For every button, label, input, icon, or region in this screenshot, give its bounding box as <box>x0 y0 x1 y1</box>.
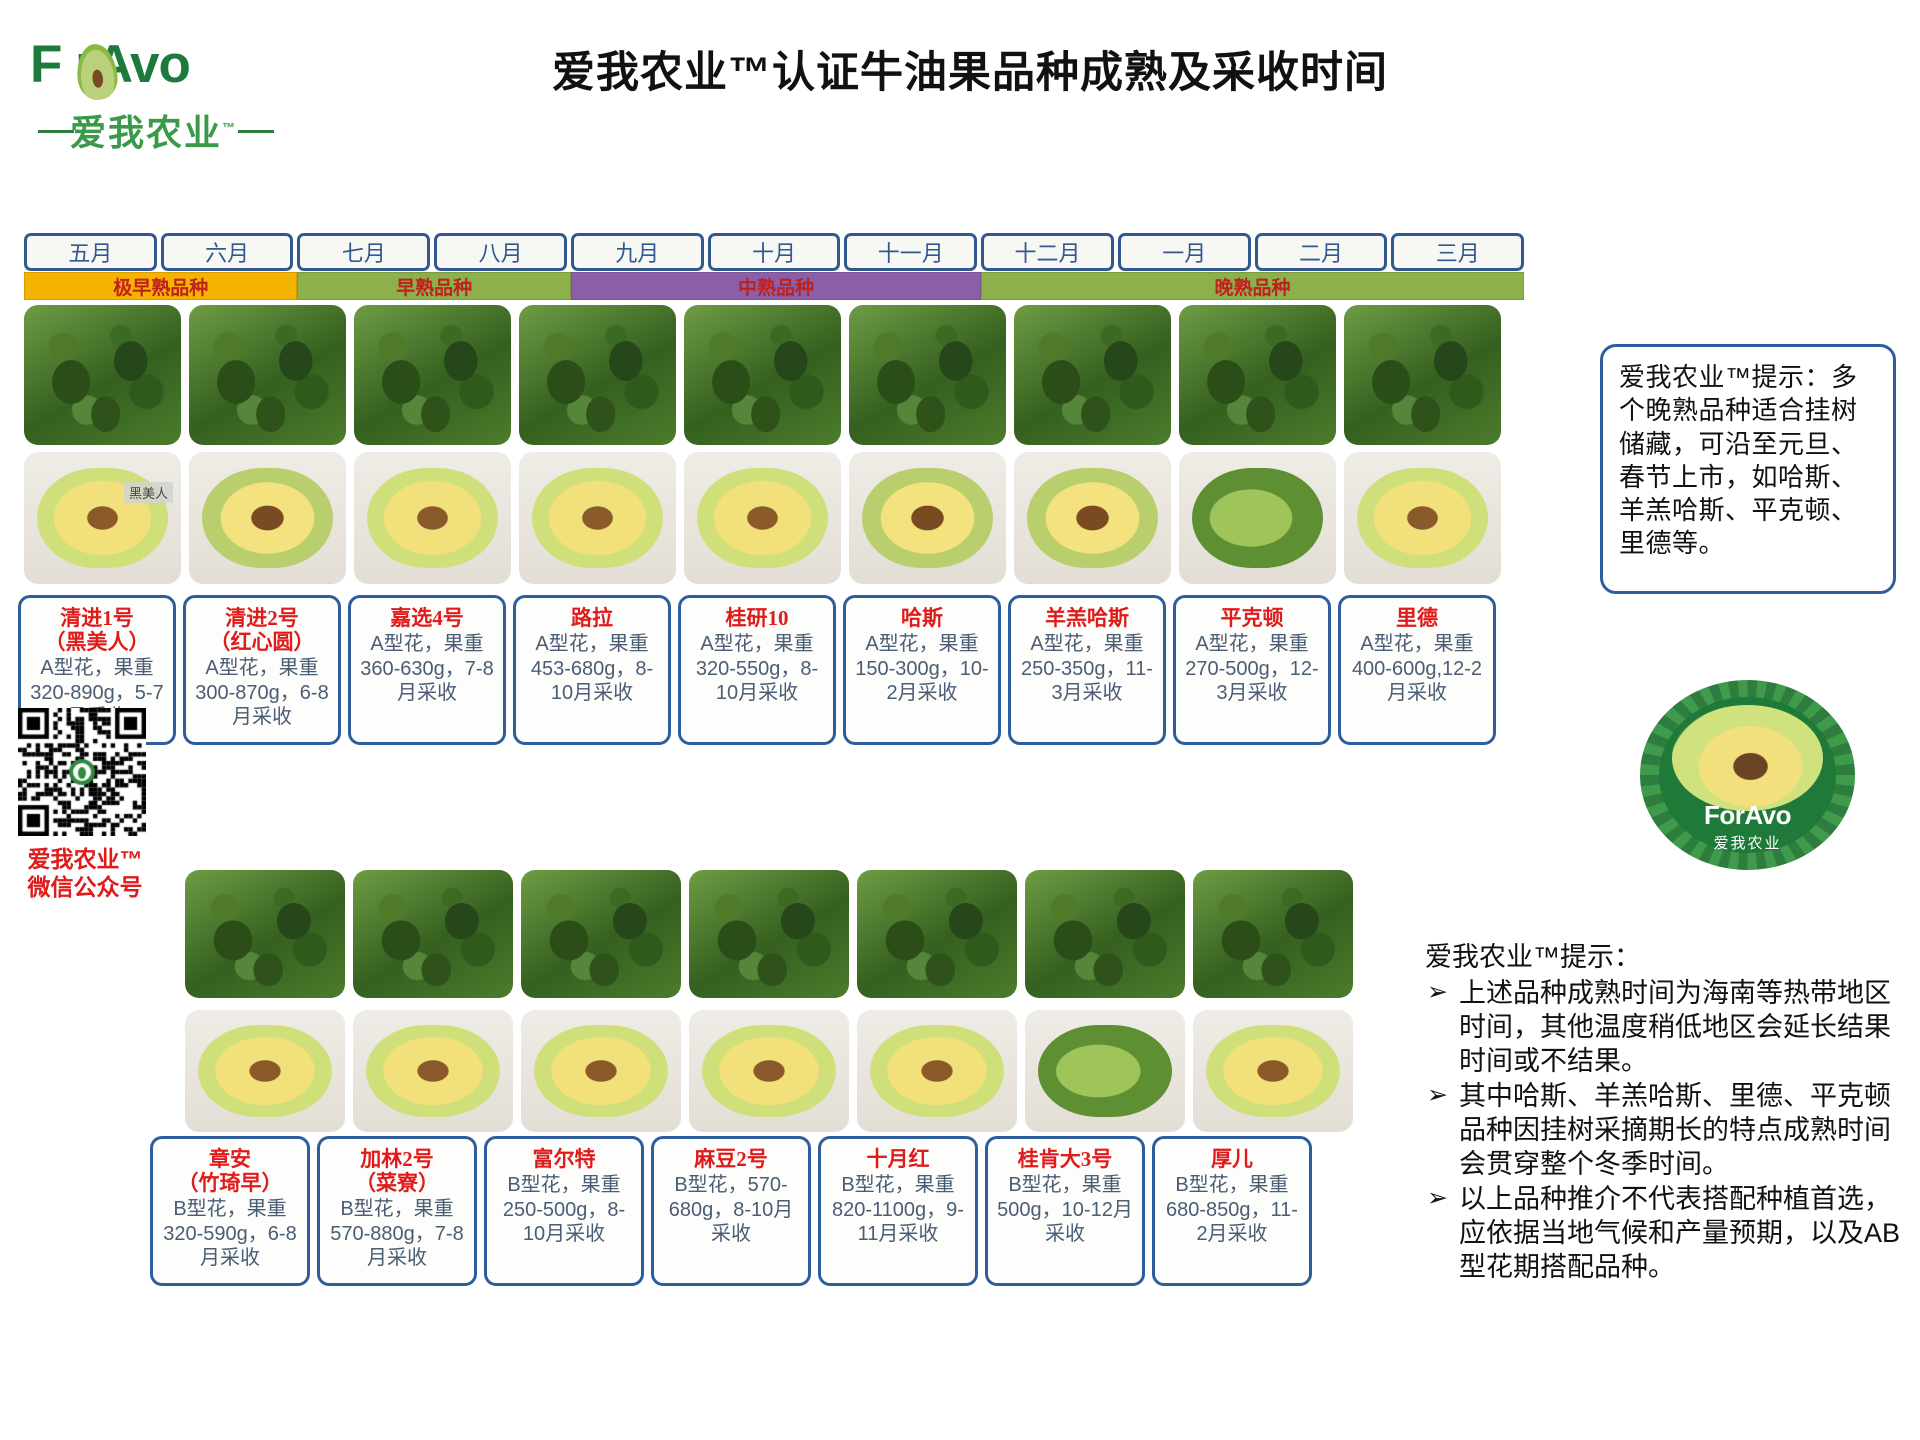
logo-wordmark: F rAvo <box>30 38 280 91</box>
variety-name: 桂肯大3号 <box>994 1147 1136 1171</box>
tip-item-2: ➢其中哈斯、羊羔哈斯、里德、平克顿品种因挂树采摘期长的特点成熟时间会贯穿整个冬季… <box>1425 1079 1905 1181</box>
variety-description: B型花，果重320-590g，6-8月采收 <box>159 1197 301 1270</box>
qr-caption: 爱我农业™ 微信公众号 <box>10 845 160 901</box>
fruit-photo-a-8 <box>1179 452 1336 584</box>
variety-card-a-5[interactable]: 桂研10A型花，果重320-550g，8-10月采收 <box>678 595 836 745</box>
month-label: 二月 <box>1299 236 1343 268</box>
tree-photo-b-6 <box>1025 870 1185 998</box>
tree-photo-b-4 <box>689 870 849 998</box>
variety-name: 富尔特 <box>493 1147 635 1171</box>
tree-photo-b-2 <box>353 870 513 998</box>
month-cell-8: 十二月 <box>981 233 1114 271</box>
variety-card-a-7[interactable]: 羊羔哈斯A型花，果重250-350g，11-3月采收 <box>1008 595 1166 745</box>
variety-name: 十月红 <box>827 1147 969 1171</box>
maturity-band-label: 中熟品种 <box>738 273 814 300</box>
variety-card-b-3[interactable]: 富尔特B型花，果重250-500g，8-10月采收 <box>484 1136 644 1286</box>
month-label: 八月 <box>479 236 523 268</box>
variety-name: 清进2号 （红心圆） <box>192 606 332 654</box>
fruit-photo-b-1 <box>185 1010 345 1132</box>
wechat-qr-code[interactable] <box>18 708 146 836</box>
variety-card-b-4[interactable]: 麻豆2号B型花，570-680g，8-10月采收 <box>651 1136 811 1286</box>
trademark-symbol: ™ <box>222 120 237 135</box>
variety-card-a-3[interactable]: 嘉选4号A型花，果重360-630g，7-8月采收 <box>348 595 506 745</box>
month-cell-3: 七月 <box>297 233 430 271</box>
month-label: 一月 <box>1162 236 1206 268</box>
tip-item-text: 其中哈斯、羊羔哈斯、里德、平克顿品种因挂树采摘期长的特点成熟时间会贯穿整个冬季时… <box>1459 1081 1891 1179</box>
month-label: 六月 <box>205 236 249 268</box>
fruit-photo-b-4 <box>689 1010 849 1132</box>
month-cell-1: 五月 <box>24 233 157 271</box>
variety-card-a-8[interactable]: 平克顿A型花，果重270-500g，12-3月采收 <box>1173 595 1331 745</box>
bullet-arrow-icon: ➢ <box>1427 977 1448 1009</box>
month-cell-6: 十月 <box>708 233 841 271</box>
month-label: 三月 <box>1436 236 1480 268</box>
fruit-photo-b-5 <box>857 1010 1017 1132</box>
fruit-photo-a-9 <box>1344 452 1501 584</box>
page-title: 爱我农业™认证牛油果品种成熟及采收时间 <box>430 48 1510 100</box>
maturity-band-label: 晚熟品种 <box>1215 273 1291 300</box>
variety-description: A型花，果重360-630g，7-8月采收 <box>357 632 497 705</box>
seal-wordmark: ForAvo <box>1640 800 1855 831</box>
variety-name: 里德 <box>1347 606 1487 630</box>
tip-callout-top-text: 爱我农业™提示：多个晚熟品种适合挂树储藏，可沿至元旦、春节上市，如哈斯、羊羔哈斯… <box>1619 362 1858 558</box>
month-label: 十二月 <box>1015 236 1081 268</box>
month-cell-2: 六月 <box>161 233 294 271</box>
tree-photo-b-3 <box>521 870 681 998</box>
qr-caption-line1: 爱我农业™ <box>10 845 160 873</box>
month-label: 五月 <box>68 236 112 268</box>
variety-description: A型花，果重400-600g,12-2月采收 <box>1347 632 1487 705</box>
month-cell-4: 八月 <box>434 233 567 271</box>
variety-name: 哈斯 <box>852 606 992 630</box>
variety-name: 羊羔哈斯 <box>1017 606 1157 630</box>
row-b-variety-cards: 章安 （竹琦早）B型花，果重320-590g，6-8月采收加林2号 （菜寮）B型… <box>150 1136 1312 1286</box>
variety-card-b-1[interactable]: 章安 （竹琦早）B型花，果重320-590g，6-8月采收 <box>150 1136 310 1286</box>
variety-name: 清进1号 （黑美人） <box>27 606 167 654</box>
tree-photo-b-5 <box>857 870 1017 998</box>
fruit-photo-a-4 <box>519 452 676 584</box>
tree-photo-a-5 <box>684 305 841 445</box>
month-label: 七月 <box>342 236 386 268</box>
tree-photo-a-3 <box>354 305 511 445</box>
variety-name: 章安 （竹琦早） <box>159 1147 301 1195</box>
maturity-band-label: 早熟品种 <box>396 273 472 300</box>
tree-photo-a-4 <box>519 305 676 445</box>
variety-name: 嘉选4号 <box>357 606 497 630</box>
variety-card-b-5[interactable]: 十月红B型花，果重820-1100g，9-11月采收 <box>818 1136 978 1286</box>
variety-description: A型花，果重270-500g，12-3月采收 <box>1182 632 1322 705</box>
month-cell-9: 一月 <box>1118 233 1251 271</box>
variety-description: B型花，570-680g，8-10月采收 <box>660 1173 802 1246</box>
variety-description: A型花，果重320-550g，8-10月采收 <box>687 632 827 705</box>
month-cell-7: 十一月 <box>844 233 977 271</box>
tree-photo-a-8 <box>1179 305 1336 445</box>
tip-list-bottom: 爱我农业™提示： ➢上述品种成熟时间为海南等热带地区时间，其他温度稍低地区会延长… <box>1425 940 1905 1285</box>
maturity-band-4: 晚熟品种 <box>981 272 1524 300</box>
tip-list-heading: 爱我农业™提示： <box>1425 940 1905 974</box>
variety-description: A型花，果重300-870g，6-8月采收 <box>192 656 332 729</box>
logo-rule-right <box>238 130 274 133</box>
tree-photo-b-7 <box>1193 870 1353 998</box>
variety-description: A型花，果重453-680g，8-10月采收 <box>522 632 662 705</box>
logo-chinese-name: 爱我农业™ <box>70 104 237 156</box>
row-a-tree-photos <box>24 305 1501 445</box>
variety-card-b-2[interactable]: 加林2号 （菜寮）B型花，果重570-880g，7-8月采收 <box>317 1136 477 1286</box>
variety-name: 平克顿 <box>1182 606 1322 630</box>
infographic-page: F rAvo 爱我农业™ 爱我农业™认证牛油果品种成熟及采收时间 五月六月七月八… <box>0 0 1920 1440</box>
variety-card-a-2[interactable]: 清进2号 （红心圆）A型花，果重300-870g，6-8月采收 <box>183 595 341 745</box>
variety-description: B型花，果重250-500g，8-10月采收 <box>493 1173 635 1246</box>
tip-item-3: ➢以上品种推介不代表搭配种植首选，应依据当地气候和产量预期，以及AB型花期搭配品… <box>1425 1182 1905 1284</box>
tip-callout-top: 爱我农业™提示：多个晚熟品种适合挂树储藏，可沿至元旦、春节上市，如哈斯、羊羔哈斯… <box>1600 344 1896 594</box>
fruit-photo-b-7 <box>1193 1010 1353 1132</box>
tree-photo-a-9 <box>1344 305 1501 445</box>
tree-photo-a-2 <box>189 305 346 445</box>
variety-description: B型花，果重820-1100g，9-11月采收 <box>827 1173 969 1246</box>
maturity-band-1: 极早熟品种 <box>24 272 297 300</box>
tip-item-text: 上述品种成熟时间为海南等热带地区时间，其他温度稍低地区会延长结果时间或不结果。 <box>1459 978 1891 1076</box>
qr-canvas <box>18 708 146 836</box>
bullet-arrow-icon: ➢ <box>1427 1183 1448 1215</box>
maturity-band-2: 早熟品种 <box>297 272 570 300</box>
maturity-band-strip: 极早熟品种早熟品种中熟品种晚熟品种 <box>24 272 1524 300</box>
maturity-band-label: 极早熟品种 <box>113 273 208 300</box>
bullet-arrow-icon: ➢ <box>1427 1080 1448 1112</box>
variety-description: B型花，果重570-880g，7-8月采收 <box>326 1197 468 1270</box>
foravo-logo: F rAvo 爱我农业™ <box>30 38 280 143</box>
variety-name: 加林2号 （菜寮） <box>326 1147 468 1195</box>
month-cell-11: 三月 <box>1391 233 1524 271</box>
month-label: 九月 <box>615 236 659 268</box>
fruit-photo-b-6 <box>1025 1010 1185 1132</box>
variety-description: A型花，果重250-350g，11-3月采收 <box>1017 632 1157 705</box>
variety-card-a-4[interactable]: 路拉A型花，果重453-680g，8-10月采收 <box>513 595 671 745</box>
variety-name: 麻豆2号 <box>660 1147 802 1171</box>
variety-card-a-6[interactable]: 哈斯A型花，果重150-300g，10-2月采收 <box>843 595 1001 745</box>
row-a-fruit-photos: 黑美人 <box>24 452 1501 584</box>
variety-name: 厚儿 <box>1161 1147 1303 1171</box>
variety-card-b-6[interactable]: 桂肯大3号B型花，果重500g，10-12月采收 <box>985 1136 1145 1286</box>
qr-caption-line2: 微信公众号 <box>10 873 160 901</box>
month-label: 十一月 <box>878 236 944 268</box>
fruit-photo-a-6 <box>849 452 1006 584</box>
photo-label-black-beauty: 黑美人 <box>124 482 173 503</box>
month-cell-5: 九月 <box>571 233 704 271</box>
row-b-fruit-photos <box>185 1010 1353 1132</box>
variety-name: 路拉 <box>522 606 662 630</box>
month-cell-10: 二月 <box>1255 233 1388 271</box>
tip-item-text: 以上品种推介不代表搭配种植首选，应依据当地气候和产量预期，以及AB型花期搭配品种… <box>1459 1184 1900 1282</box>
fruit-photo-a-3 <box>354 452 511 584</box>
tree-photo-a-7 <box>1014 305 1171 445</box>
fruit-photo-a-5 <box>684 452 841 584</box>
variety-description: B型花，果重680-850g，11-2月采收 <box>1161 1173 1303 1246</box>
logo-rule-left <box>38 130 74 133</box>
maturity-band-3: 中熟品种 <box>571 272 981 300</box>
variety-card-a-9[interactable]: 里德A型花，果重400-600g,12-2月采收 <box>1338 595 1496 745</box>
fruit-photo-b-3 <box>521 1010 681 1132</box>
variety-name: 桂研10 <box>687 606 827 630</box>
tip-list-items: ➢上述品种成熟时间为海南等热带地区时间，其他温度稍低地区会延长结果时间或不结果。… <box>1425 976 1905 1284</box>
fruit-photo-a-2 <box>189 452 346 584</box>
tip-item-1: ➢上述品种成熟时间为海南等热带地区时间，其他温度稍低地区会延长结果时间或不结果。 <box>1425 976 1905 1078</box>
month-strip: 五月六月七月八月九月十月十一月十二月一月二月三月 <box>24 233 1524 271</box>
tree-photo-b-1 <box>185 870 345 998</box>
variety-description: A型花，果重150-300g，10-2月采收 <box>852 632 992 705</box>
variety-card-b-7[interactable]: 厚儿B型花，果重680-850g，11-2月采收 <box>1152 1136 1312 1286</box>
row-b-tree-photos <box>185 870 1353 998</box>
seal-chinese-name: 爱我农业 <box>1640 832 1855 853</box>
fruit-photo-a-7 <box>1014 452 1171 584</box>
tree-photo-a-6 <box>849 305 1006 445</box>
row-a-variety-cards: 清进1号 （黑美人）A型花，果重320-890g，5-7月采收清进2号 （红心圆… <box>18 595 1496 745</box>
variety-description: B型花，果重500g，10-12月采收 <box>994 1173 1136 1246</box>
fruit-photo-a-1: 黑美人 <box>24 452 181 584</box>
month-label: 十月 <box>752 236 796 268</box>
seal-avocado-icon <box>1672 705 1823 811</box>
certification-seal: ForAvo 爱我农业 <box>1640 680 1855 870</box>
tree-photo-a-1 <box>24 305 181 445</box>
fruit-photo-b-2 <box>353 1010 513 1132</box>
